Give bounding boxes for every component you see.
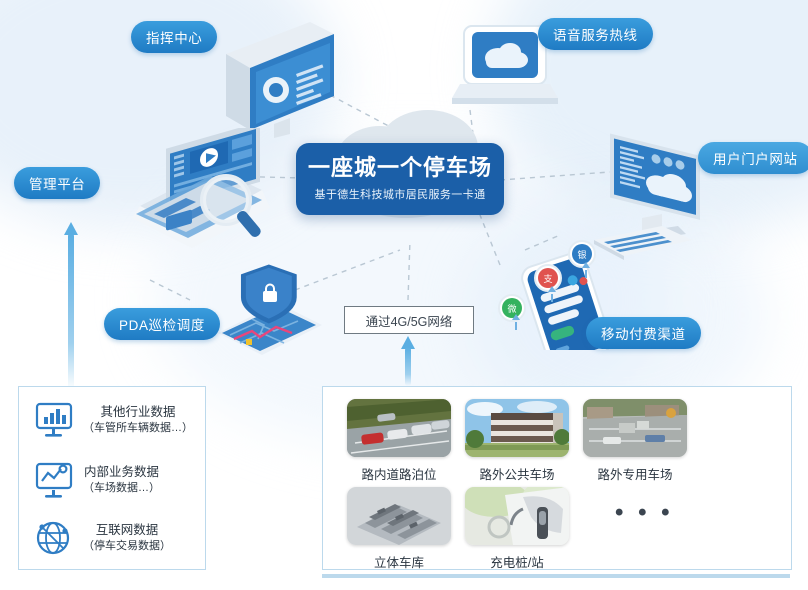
data-sources-panel: 其他行业数据 （车管所车辆数据…） 内部业务数据 （车场数据…） <box>18 386 206 570</box>
scene-card[interactable]: 路外公共车场 <box>465 399 569 483</box>
scene-caption: 路内道路泊位 <box>347 464 451 483</box>
data-source-subtitle: （车场数据…） <box>83 481 160 496</box>
flow-arrow-center <box>401 336 415 386</box>
data-source-title: 内部业务数据 <box>84 464 159 481</box>
main-banner: 一座城一个停车场 基于德生科技城市居民服务一卡通 <box>296 143 504 215</box>
scene-card[interactable]: 路内道路泊位 <box>347 399 451 483</box>
label-management-platform[interactable]: 管理平台 <box>14 167 100 199</box>
data-source-subtitle: （车管所车辆数据…） <box>83 421 193 436</box>
data-source-title: 其他行业数据 <box>100 404 175 421</box>
scene-caption: 充电桩/站 <box>465 552 569 571</box>
scene-caption: 路外专用车场 <box>583 464 687 483</box>
svg-text:微: 微 <box>507 303 516 315</box>
charging-station-photo <box>465 487 569 545</box>
monitor-line-chart-icon <box>31 457 77 503</box>
svg-text:支: 支 <box>543 273 552 285</box>
scene-card[interactable]: 充电桩/站 <box>465 487 569 571</box>
data-source-row[interactable]: 内部业务数据 （车场数据…） <box>31 457 160 503</box>
globe-network-icon <box>31 515 77 561</box>
laptop-graphic <box>92 128 282 268</box>
svg-text:银: 银 <box>577 249 586 261</box>
more-scenes-indicator: • • • <box>615 499 674 527</box>
scene-caption: 立体车库 <box>347 552 451 571</box>
infographic-canvas: 微 支 银 指挥中心 语音服务热线 管理平台 用户门 <box>0 0 808 590</box>
shield-map-graphic <box>200 255 332 367</box>
panel-bottom-accent <box>322 574 790 578</box>
network-label-text: 通过4G/5G网络 <box>366 311 453 330</box>
dedicated-parking-lot-photo <box>583 399 687 457</box>
banner-subtitle: 基于德生科技城市居民服务一卡通 <box>315 186 486 202</box>
data-source-title: 互联网数据 <box>96 522 159 539</box>
data-source-row[interactable]: 互联网数据 （停车交易数据） <box>31 515 171 561</box>
command-center-monitor-graphic <box>218 18 342 140</box>
banner-title: 一座城一个停车场 <box>308 156 492 180</box>
scene-caption: 路外公共车场 <box>465 464 569 483</box>
label-voice-hotline[interactable]: 语音服务热线 <box>538 18 653 50</box>
scene-card[interactable]: 路外专用车场 <box>583 399 687 483</box>
parking-scenes-panel: 路内道路泊位 路外公共车场 <box>322 386 792 570</box>
data-source-subtitle: （停车交易数据） <box>83 539 171 554</box>
data-source-row[interactable]: 其他行业数据 （车管所车辆数据…） <box>31 397 193 443</box>
multilevel-garage-photo <box>347 487 451 545</box>
label-mobile-payment[interactable]: 移动付费渠道 <box>586 317 701 349</box>
label-pda-dispatch[interactable]: PDA巡检调度 <box>104 308 220 340</box>
monitor-bar-chart-icon <box>31 397 77 443</box>
label-command-center[interactable]: 指挥中心 <box>131 21 217 53</box>
public-parking-building-photo <box>465 399 569 457</box>
label-user-portal[interactable]: 用户门户网站 <box>698 142 808 174</box>
network-label-box: 通过4G/5G网络 <box>344 306 474 334</box>
on-street-parking-photo <box>347 399 451 457</box>
flow-arrow-left <box>64 222 78 390</box>
scene-card[interactable]: 立体车库 <box>347 487 451 571</box>
